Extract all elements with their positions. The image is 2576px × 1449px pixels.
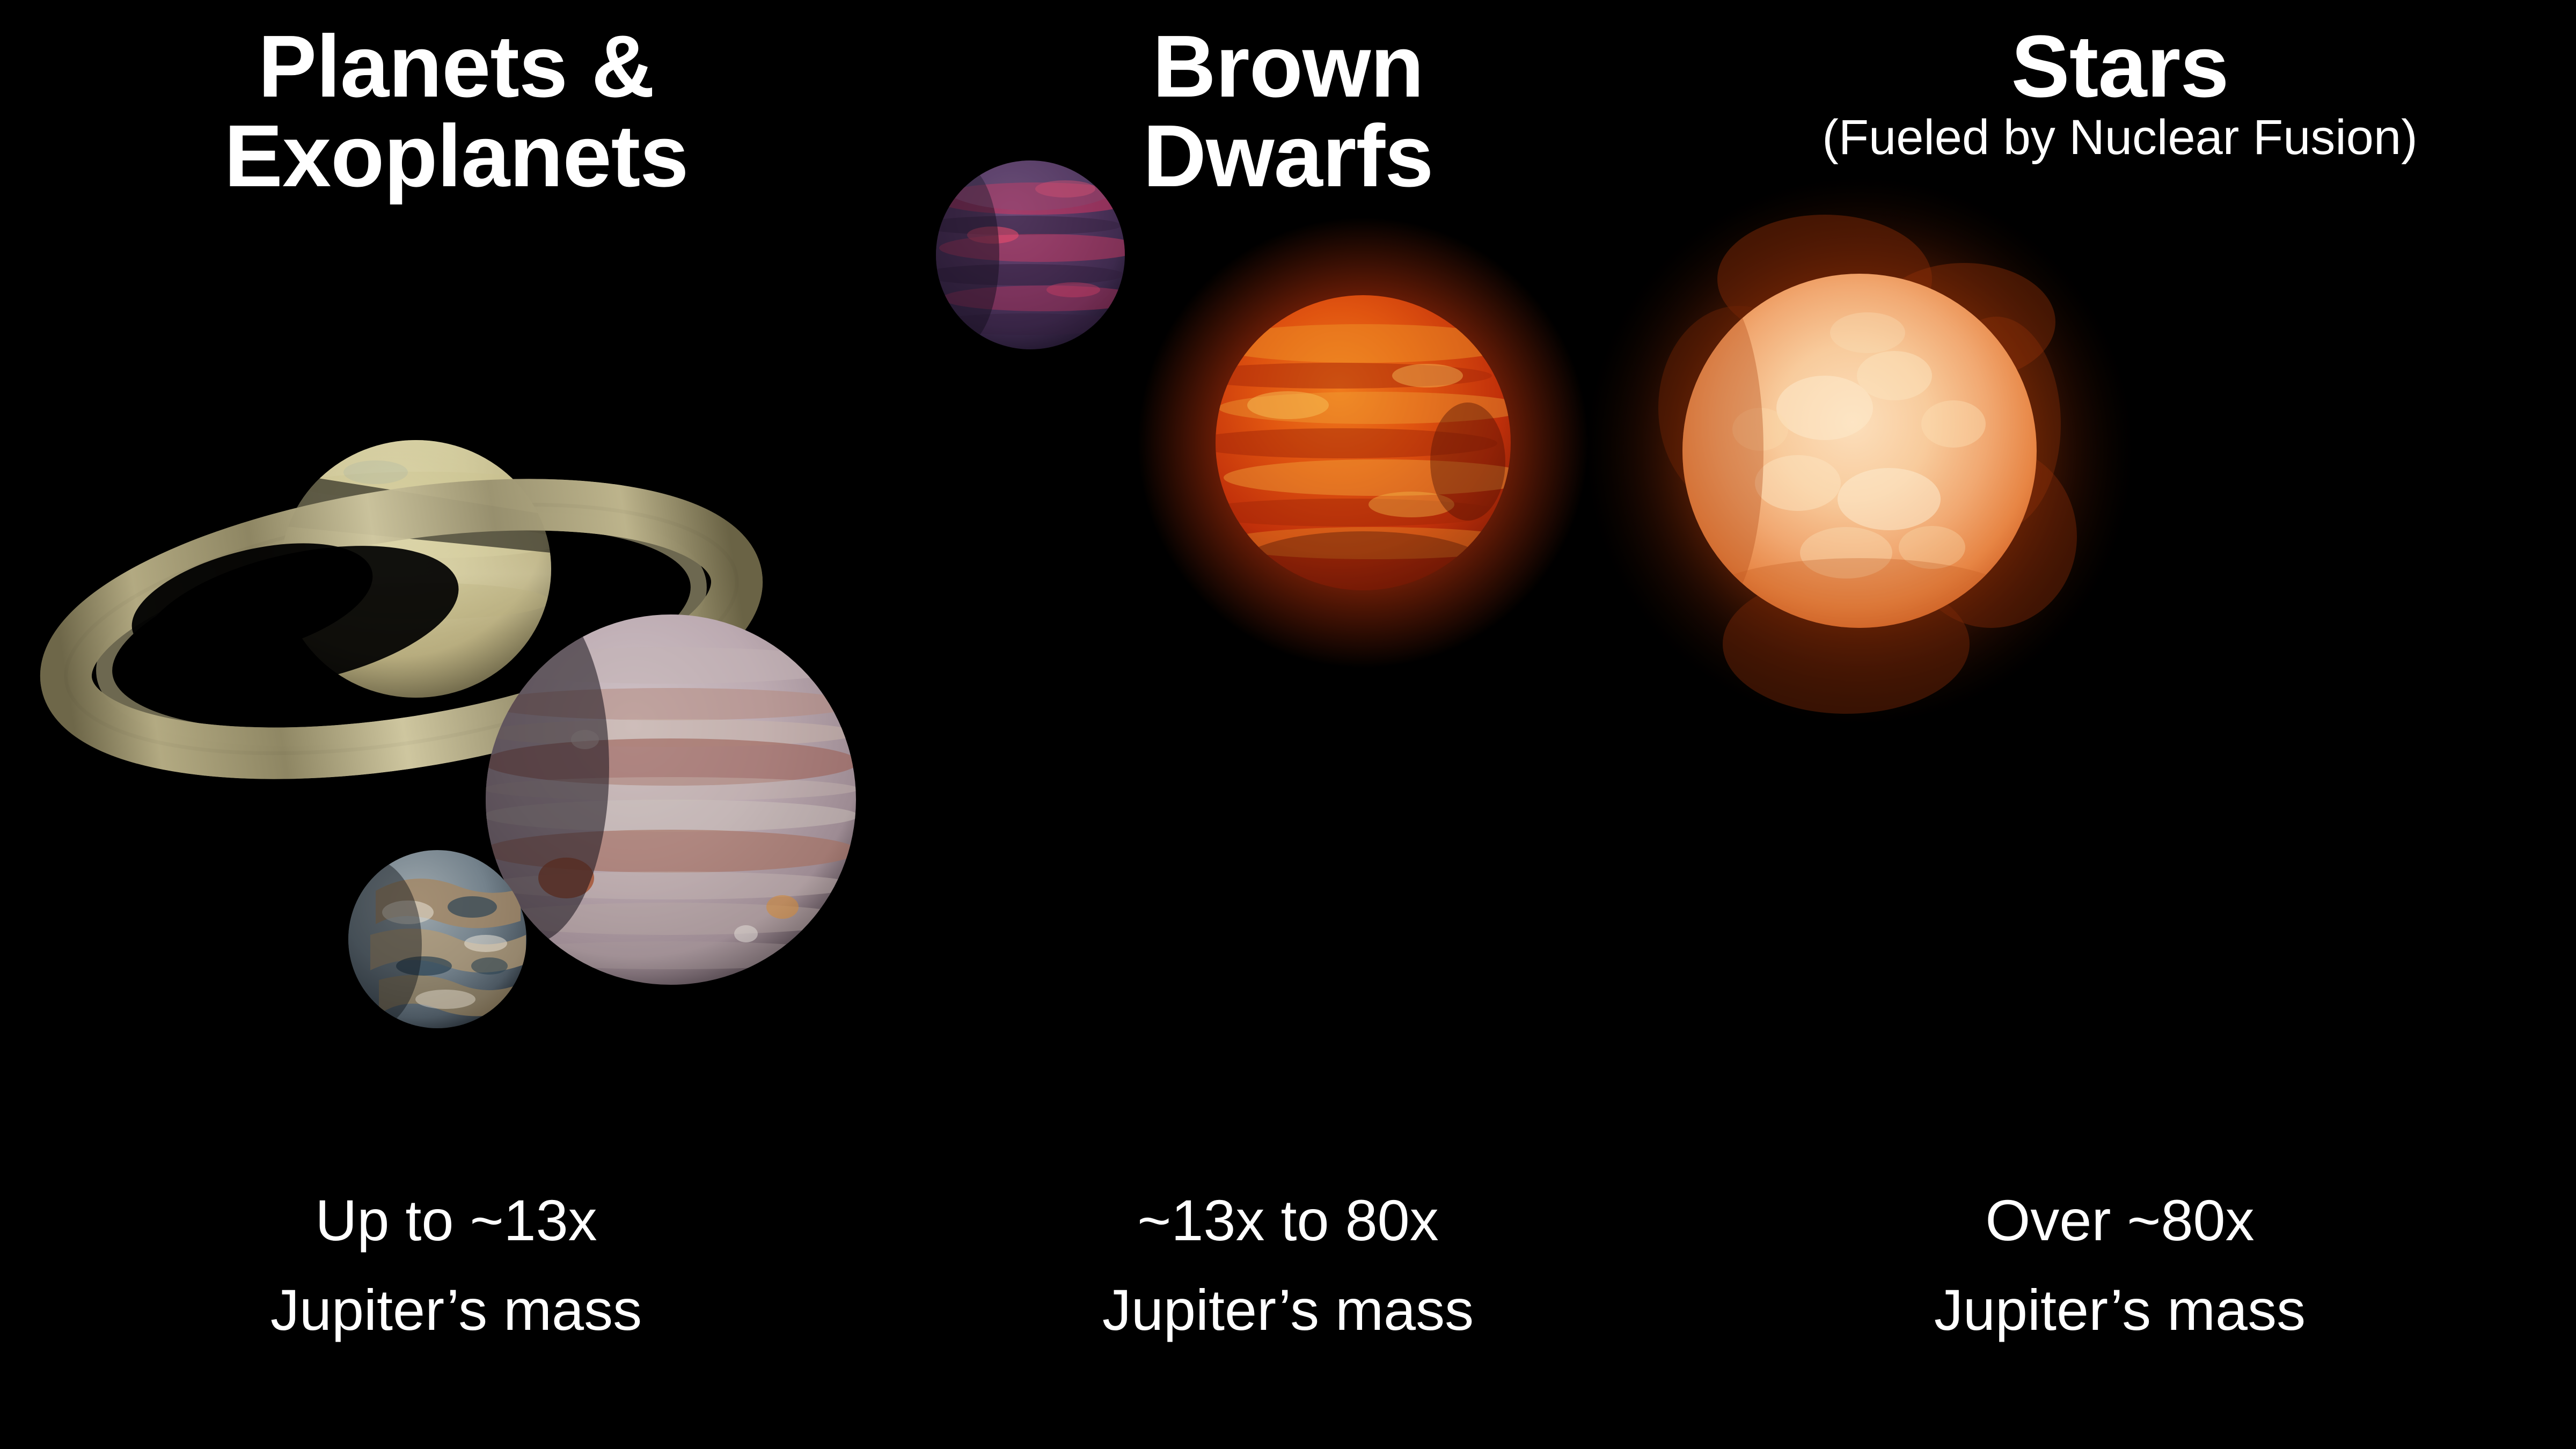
- hot-brown-dwarf: [1138, 217, 1589, 668]
- caption-brown-dwarfs-line2: Jupiter’s mass: [912, 1265, 1664, 1355]
- caption-planets-line2: Jupiter’s mass: [0, 1265, 912, 1355]
- column-brown-dwarfs: Brown Dwarfs: [912, 0, 1664, 1449]
- caption-planets-line1: Up to ~13x: [0, 1175, 912, 1265]
- caption-brown-dwarfs: ~13x to 80x Jupiter’s mass: [912, 1175, 1664, 1355]
- caption-planets: Up to ~13x Jupiter’s mass: [0, 1175, 912, 1355]
- infographic-root: Planets & Exoplanets: [0, 0, 2576, 1449]
- caption-stars-line1: Over ~80x: [1664, 1175, 2576, 1265]
- caption-stars: Over ~80x Jupiter’s mass: [1664, 1175, 2576, 1355]
- caption-stars-line2: Jupiter’s mass: [1664, 1265, 2576, 1355]
- cool-brown-dwarf: [918, 155, 1146, 349]
- column-stars: Stars (Fueled by Nuclear Fusion): [1664, 0, 2576, 1449]
- column-planets-exoplanets: Planets & Exoplanets: [0, 0, 912, 1449]
- caption-brown-dwarfs-line1: ~13x to 80x: [912, 1175, 1664, 1265]
- terrestrial-exoplanet: [319, 850, 526, 1030]
